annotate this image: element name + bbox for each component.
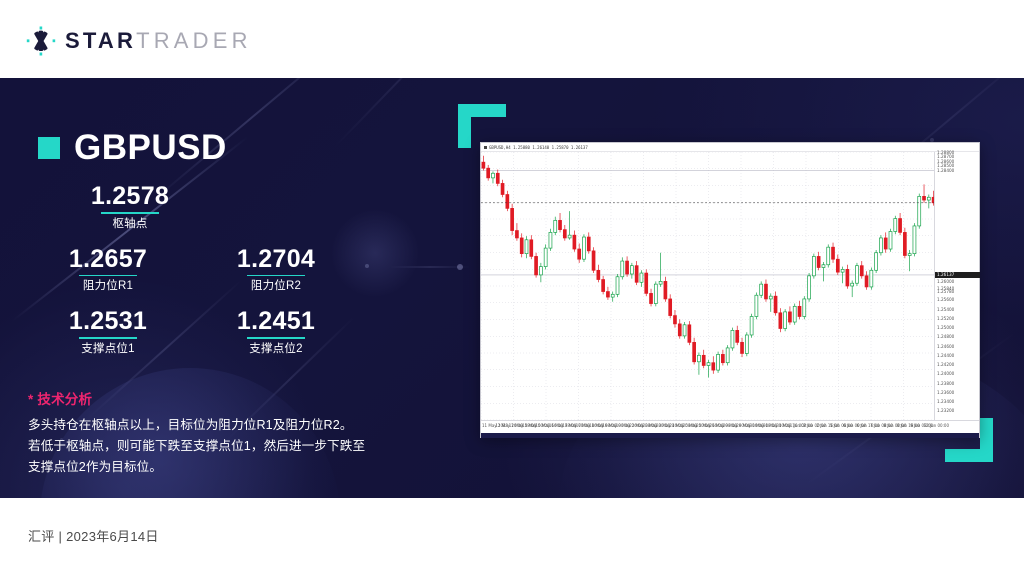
analysis-line-3: 支撑点位2作为目标位。 [28,457,428,478]
level-s1-value: 1.2531 [38,307,178,335]
price-axis-tick: 1.23400 [937,399,954,404]
analysis-body: 多头持仓在枢轴点以上，目标位为阻力位R1及阻力位R2。 若低于枢轴点，则可能下跌… [28,415,428,477]
candlestick-plot[interactable] [481,152,936,420]
chart-ohlc-readout: GBPUSD,H4 1.25880 1.26140 1.25870 1.2613… [484,144,588,152]
level-divider [101,212,159,214]
analysis-line-1: 多头持仓在枢轴点以上，目标位为阻力位R1及阻力位R2。 [28,415,428,436]
levels-row-resistance: 1.2657 阻力位R1 1.2704 阻力位R2 [38,245,398,308]
level-pivot: 1.2578 枢轴点 [60,182,200,232]
price-axis-tick: 1.23600 [937,390,954,395]
candlestick-chart-card[interactable]: GBPUSD,H4 1.25880 1.26140 1.25870 1.2613… [480,142,980,438]
candlestick-svg [481,152,936,420]
level-r1-label: 阻力位R1 [38,279,178,294]
time-axis-strip [481,433,979,438]
instrument-title-row: GBPUSD [38,130,227,165]
slide-canvas: STARTRADER GBPUSD [0,0,1024,576]
price-axis-tick: 1.25400 [937,307,954,312]
level-divider [79,337,137,339]
level-r2-label: 阻力位R2 [206,279,346,294]
price-axis-tick: 1.23800 [937,381,954,386]
level-pivot-label: 枢轴点 [60,217,200,232]
price-axis-tick: 1.24400 [937,353,954,358]
price-axis-tick: 1.24200 [937,362,954,367]
level-r2: 1.2704 阻力位R2 [206,245,346,295]
price-axis-tick: 1.26000 [937,279,954,284]
price-axis[interactable]: 1.288001.287001.286001.285001.284001.261… [934,152,979,420]
analysis-heading: * 技术分析 [28,388,428,408]
price-axis-tick: 1.25600 [937,297,954,302]
levels-row-support: 1.2531 支撑点位1 1.2451 支撑点位2 [38,307,398,370]
level-r1-value: 1.2657 [38,245,178,273]
level-s1: 1.2531 支撑点位1 [38,307,178,357]
corner-bracket-topleft-v [458,104,471,148]
time-axis[interactable]: 11 May 202311 May 16:0012 May 08:0015 Ma… [481,420,979,438]
header-bar: STARTRADER [0,0,1024,78]
level-r2-value: 1.2704 [206,245,346,273]
levels-table: 1.2578 枢轴点 1.2657 阻力位R1 1.2704 阻力位R2 [38,182,398,370]
price-axis-tick: 1.25200 [937,316,954,321]
chart-symbol-swatch [484,146,487,149]
price-current-label: 1.26137 [935,272,980,278]
price-axis-tick: 1.25000 [937,325,954,330]
time-axis-tick: 12 Jun 00:00 [924,423,949,428]
level-divider [247,337,305,339]
chart-zone: GBPUSD,H4 1.25880 1.26140 1.25870 1.2613… [440,78,1024,498]
main-dark-panel: GBPUSD 1.2578 枢轴点 1.2657 阻力位R1 [0,78,1024,498]
level-s2-value: 1.2451 [206,307,346,335]
chart-plot-area: 1.288001.287001.286001.285001.284001.261… [481,152,979,420]
price-axis-tick: 1.25780 [937,289,954,294]
price-axis-tick: 1.28400 [937,168,954,173]
footer-bar: 汇评 | 2023年6月14日 [0,498,1024,576]
level-pivot-value: 1.2578 [60,182,200,210]
analysis-line-2: 若低于枢轴点，则可能下跌至支撑点位1，然后进一步下跌至 [28,436,428,457]
price-axis-tick: 1.24800 [937,334,954,339]
brand-name-light: TRADER [136,28,252,53]
level-s1-label: 支撑点位1 [38,342,178,357]
level-s2: 1.2451 支撑点位2 [206,307,346,357]
brand-logo[interactable]: STARTRADER [26,26,252,56]
footer-date-text: 汇评 | 2023年6月14日 [28,526,159,545]
price-axis-tick: 1.24000 [937,371,954,376]
level-r1: 1.2657 阻力位R1 [38,245,178,295]
brand-name-bold: STAR [65,28,136,53]
page-title: GBPUSD [74,130,227,165]
level-s2-label: 支撑点位2 [206,342,346,357]
level-divider [79,275,137,277]
levels-row-pivot: 1.2578 枢轴点 [38,182,398,245]
price-axis-tick: 1.24600 [937,344,954,349]
brand-wordmark: STARTRADER [65,30,252,52]
corner-bracket-bottomright-v [980,418,993,462]
price-axis-tick: 1.23200 [937,408,954,413]
level-divider [247,275,305,277]
chart-ohlc-text: GBPUSD,H4 1.25880 1.26140 1.25870 1.2613… [489,145,588,150]
chart-header-bar: GBPUSD,H4 1.25880 1.26140 1.25870 1.2613… [481,143,979,152]
star-asterisk-icon [26,26,56,56]
left-info-panel: GBPUSD 1.2578 枢轴点 1.2657 阻力位R1 [0,78,440,498]
title-square-marker [38,137,60,159]
technical-analysis-block: * 技术分析 多头持仓在枢轴点以上，目标位为阻力位R1及阻力位R2。 若低于枢轴… [28,388,428,477]
